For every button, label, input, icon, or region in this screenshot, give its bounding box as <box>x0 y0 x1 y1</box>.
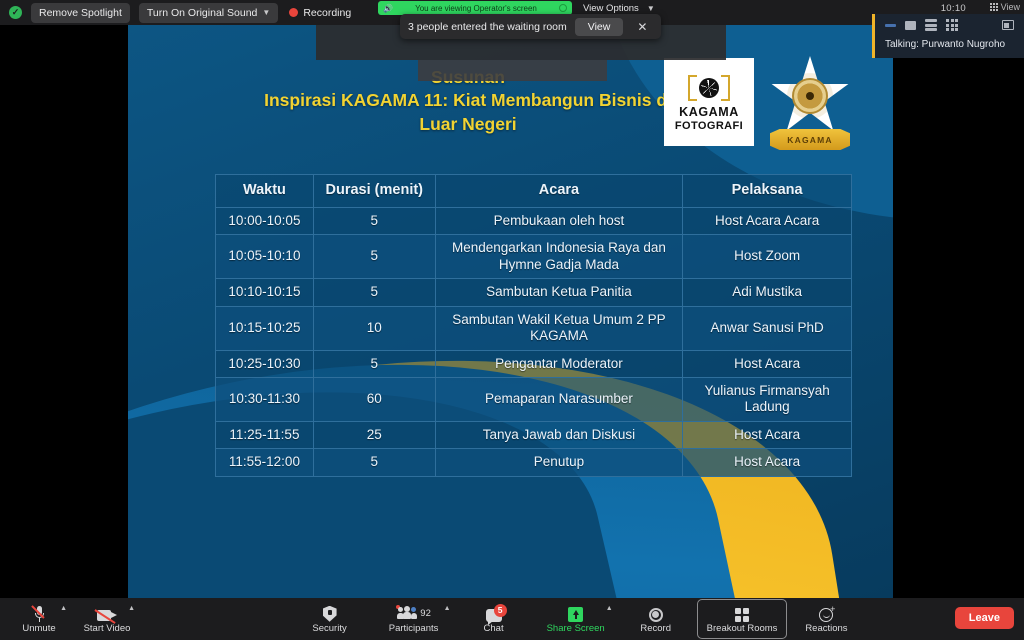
table-cell-waktu: 10:10-10:15 <box>216 279 314 306</box>
chat-label: Chat <box>484 624 504 634</box>
chat-unread-badge: 5 <box>494 604 507 617</box>
table-cell-acara: Pemaparan Narasumber <box>435 377 683 421</box>
chevron-up-icon[interactable]: ▲ <box>444 605 451 612</box>
kagama-emblem-logo: KAGAMA <box>762 52 858 156</box>
popout-icon[interactable] <box>1002 20 1014 30</box>
table-cell-waktu: 11:25-11:55 <box>216 421 314 448</box>
table-cell-waktu: 10:05-10:10 <box>216 235 314 279</box>
view-label: View <box>1001 2 1020 12</box>
video-layout-controls <box>875 14 1024 36</box>
column-header-acara: Acara <box>435 175 683 208</box>
camera-aperture-icon <box>688 72 730 104</box>
share-screen-label: Share Screen <box>547 624 605 634</box>
speaker-icon: 🔊 <box>383 4 393 13</box>
table-cell-pelaksana: Host Acara Acara <box>683 207 852 234</box>
table-cell-acara: Tanya Jawab dan Diskusi <box>435 421 683 448</box>
unmute-label: Unmute <box>22 624 55 634</box>
speaker-view-icon[interactable] <box>905 21 916 30</box>
screen-share-banner: 🔊 You are viewing Operator's screen <box>378 1 572 15</box>
table-cell-acara: Pembukaan oleh host <box>435 207 683 234</box>
emblem-center-icon <box>792 78 828 114</box>
security-label: Security <box>312 624 346 634</box>
security-button[interactable]: Security <box>305 599 355 639</box>
notification-view-button[interactable]: View <box>575 18 624 36</box>
original-sound-button[interactable]: Turn On Original Sound ▼ <box>139 3 278 23</box>
chevron-up-icon[interactable]: ▲ <box>60 605 67 612</box>
share-screen-icon <box>568 605 583 622</box>
table-cell-waktu: 10:30-11:30 <box>216 377 314 421</box>
table-cell-durasi-menit: 10 <box>313 306 435 350</box>
shared-screen-slide: Susunan Inspirasi KAGAMA 11: Kiat Memban… <box>128 14 893 598</box>
breakout-rooms-icon <box>735 605 749 622</box>
recording-indicator[interactable]: Recording <box>289 7 351 19</box>
close-icon[interactable]: ✕ <box>631 20 653 34</box>
breakout-rooms-button[interactable]: Breakout Rooms <box>697 599 788 639</box>
record-button[interactable]: Record <box>631 599 681 639</box>
remove-spotlight-button[interactable]: Remove Spotlight <box>31 3 130 23</box>
camera-off-icon <box>97 605 117 622</box>
recording-label: Recording <box>303 7 351 19</box>
table-cell-durasi-menit: 60 <box>313 377 435 421</box>
grid-view-icon[interactable] <box>946 19 958 31</box>
table-cell-waktu: 10:00-10:05 <box>216 207 314 234</box>
meeting-controls-toolbar: Unmute ▲ Start Video ▲ Security 92 Parti… <box>0 598 1024 640</box>
view-options-button[interactable]: View Options ▼ <box>578 1 660 15</box>
table-cell-pelaksana: Yulianus Firmansyah Ladung <box>683 377 852 421</box>
leave-button[interactable]: Leave <box>955 607 1014 629</box>
share-screen-button[interactable]: Share Screen ▲ <box>547 599 605 639</box>
table-cell-waktu: 10:15-10:25 <box>216 306 314 350</box>
participants-icon: 92 <box>396 605 431 622</box>
table-cell-durasi-menit: 25 <box>313 421 435 448</box>
column-header-pelaksana: Pelaksana <box>683 175 852 208</box>
table-row: 11:55-12:005PenutupHost Acara <box>216 449 852 476</box>
breakout-rooms-label: Breakout Rooms <box>707 624 778 634</box>
microphone-muted-icon <box>35 605 44 622</box>
share-status-circle-icon <box>559 4 567 12</box>
chevron-up-icon[interactable]: ▲ <box>128 605 135 612</box>
participants-button[interactable]: 92 Participants ▲ <box>389 599 439 639</box>
notification-message: 3 people entered the waiting room <box>408 21 567 33</box>
table-cell-acara: Pengantar Moderator <box>435 350 683 377</box>
minimize-icon[interactable] <box>885 24 896 27</box>
logo-text-fotografi: FOTOGRAFI <box>675 120 743 132</box>
table-cell-acara: Sambutan Wakil Ketua Umum 2 PP KAGAMA <box>435 306 683 350</box>
view-options-label: View Options <box>583 3 639 14</box>
chat-bubble-icon: 5 <box>486 605 502 622</box>
talking-indicator-label: Talking: Purwanto Nugroho <box>875 36 1024 50</box>
table-row: 10:25-10:305Pengantar ModeratorHost Acar… <box>216 350 852 377</box>
table-row: 10:05-10:105Mendengarkan Indonesia Raya … <box>216 235 852 279</box>
unmute-button[interactable]: Unmute ▲ <box>14 599 64 639</box>
chevron-down-icon: ▼ <box>647 4 655 13</box>
emblem-ribbon: KAGAMA <box>770 129 850 150</box>
chevron-up-icon[interactable]: ▲ <box>606 605 613 612</box>
overlay-mask-title <box>418 60 607 81</box>
agenda-table: Waktu Durasi (menit) Acara Pelaksana 10:… <box>215 174 852 477</box>
column-header-waktu: Waktu <box>216 175 314 208</box>
table-cell-durasi-menit: 5 <box>313 449 435 476</box>
reactions-label: Reactions <box>805 624 847 634</box>
original-sound-label: Turn On Original Sound <box>147 7 258 19</box>
gallery-view-icon[interactable] <box>925 19 937 31</box>
table-cell-acara: Penutup <box>435 449 683 476</box>
view-layout-button[interactable]: View <box>990 2 1020 12</box>
table-header-row: Waktu Durasi (menit) Acara Pelaksana <box>216 175 852 208</box>
record-label: Record <box>640 624 671 634</box>
table-cell-pelaksana: Adi Mustika <box>683 279 852 306</box>
chevron-down-icon[interactable]: ▼ <box>262 8 270 17</box>
table-cell-pelaksana: Anwar Sanusi PhD <box>683 306 852 350</box>
table-row: 10:30-11:3060Pemaparan NarasumberYulianu… <box>216 377 852 421</box>
table-cell-pelaksana: Host Acara <box>683 350 852 377</box>
clock-label: 10:10 <box>941 3 966 14</box>
table-cell-pelaksana: Host Zoom <box>683 235 852 279</box>
table-cell-waktu: 10:25-10:30 <box>216 350 314 377</box>
table-cell-pelaksana: Host Acara <box>683 449 852 476</box>
chat-button[interactable]: 5 Chat <box>469 599 519 639</box>
reactions-icon: + <box>819 605 833 622</box>
video-panel[interactable]: Talking: Purwanto Nugroho <box>872 14 1024 58</box>
table-cell-durasi-menit: 5 <box>313 207 435 234</box>
table-cell-waktu: 11:55-12:00 <box>216 449 314 476</box>
start-video-label: Start Video <box>84 624 131 634</box>
table-row: 10:10-10:155Sambutan Ketua PanitiaAdi Mu… <box>216 279 852 306</box>
table-row: 11:25-11:5525Tanya Jawab dan DiskusiHost… <box>216 421 852 448</box>
screen-share-banner-label: You are viewing Operator's screen <box>397 4 555 13</box>
participants-label: Participants <box>389 624 439 634</box>
waiting-room-notification: 3 people entered the waiting room View ✕ <box>400 14 661 39</box>
participants-count: 92 <box>420 608 431 619</box>
record-icon <box>649 605 663 622</box>
column-header-durasi: Durasi (menit) <box>313 175 435 208</box>
table-cell-durasi-menit: 5 <box>313 235 435 279</box>
shield-icon <box>323 605 337 622</box>
table-cell-pelaksana: Host Acara <box>683 421 852 448</box>
reactions-button[interactable]: + Reactions <box>801 599 851 639</box>
start-video-button[interactable]: Start Video ▲ <box>82 599 132 639</box>
table-cell-durasi-menit: 5 <box>313 279 435 306</box>
check-circle-icon: ✓ <box>9 6 22 19</box>
table-cell-acara: Mendengarkan Indonesia Raya dan Hymne Ga… <box>435 235 683 279</box>
logo-text-kagama: KAGAMA <box>679 106 739 119</box>
emblem-ribbon-text: KAGAMA <box>787 135 832 145</box>
table-cell-durasi-menit: 5 <box>313 350 435 377</box>
table-row: 10:00-10:055Pembukaan oleh hostHost Acar… <box>216 207 852 234</box>
table-row: 10:15-10:2510Sambutan Wakil Ketua Umum 2… <box>216 306 852 350</box>
table-cell-acara: Sambutan Ketua Panitia <box>435 279 683 306</box>
kagama-fotografi-logo: KAGAMA FOTOGRAFI <box>664 58 754 146</box>
record-dot-icon <box>289 8 298 17</box>
grid-view-icon <box>990 3 998 11</box>
